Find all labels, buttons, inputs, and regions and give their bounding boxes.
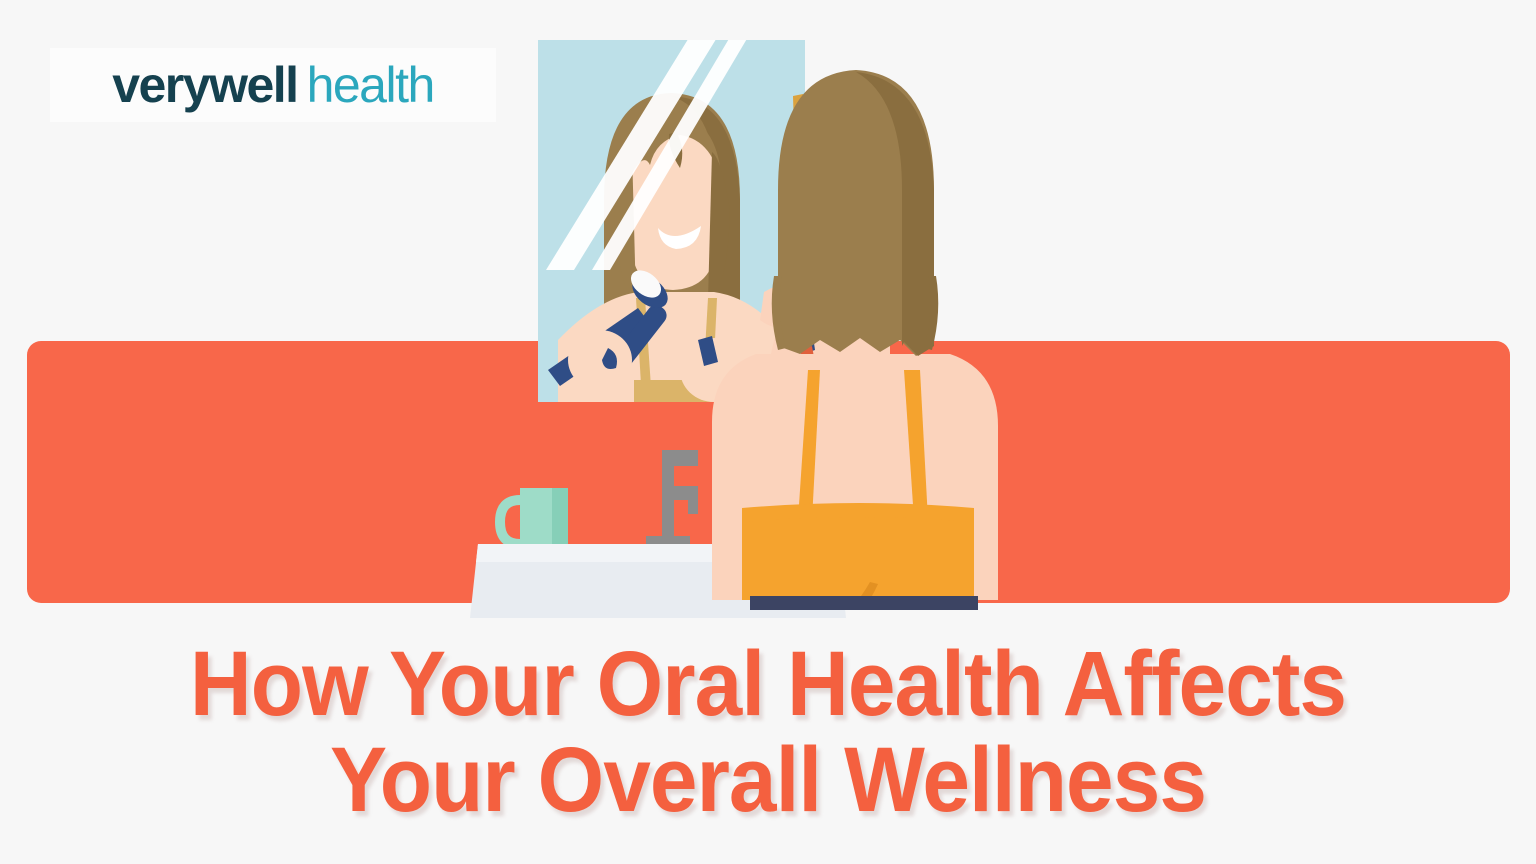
logo-secondary-word: health: [307, 57, 434, 113]
verywell-health-logo[interactable]: verywellhealth: [50, 48, 496, 122]
page-title: How Your Oral Health Affects Your Overal…: [0, 636, 1536, 828]
page-title-line-1: How Your Oral Health Affects: [54, 636, 1482, 732]
promo-graphic-canvas: verywellhealth How Your Oral Health Affe…: [0, 0, 1536, 864]
woman-figure-illustration: [660, 40, 1090, 610]
logo-primary-word: verywell: [112, 57, 297, 113]
page-title-line-2: Your Overall Wellness: [54, 732, 1482, 828]
logo-wordmark: verywellhealth: [112, 60, 434, 110]
